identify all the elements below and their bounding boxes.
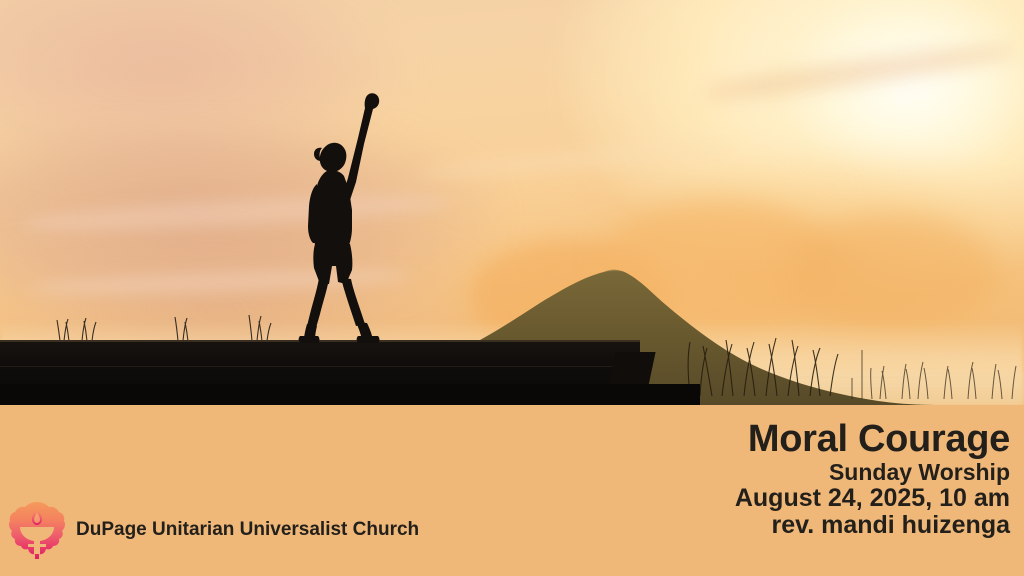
page-title: Moral Courage <box>735 420 1010 458</box>
platform-step <box>608 352 655 386</box>
woman-silhouette-raised-fist <box>286 86 396 344</box>
service-speaker: rev. mandi huizenga <box>735 513 1010 538</box>
brand-name: DuPage Unitarian Universalist Church <box>76 519 419 541</box>
platform-seam <box>0 366 620 367</box>
worship-announcement-slide: Moral Courage Sunday Worship August 24, … <box>0 0 1024 576</box>
brand-block: DuPage Unitarian Universalist Church <box>8 500 419 560</box>
service-subtitle: Sunday Worship <box>735 461 1010 484</box>
platform-lower-ledge <box>0 384 700 405</box>
title-block: Moral Courage Sunday Worship August 24, … <box>735 420 1010 538</box>
service-date: August 24, 2025, 10 am <box>735 486 1010 511</box>
flaming-chalice-tree-logo-icon <box>8 500 66 560</box>
hero-photo <box>0 0 1024 405</box>
